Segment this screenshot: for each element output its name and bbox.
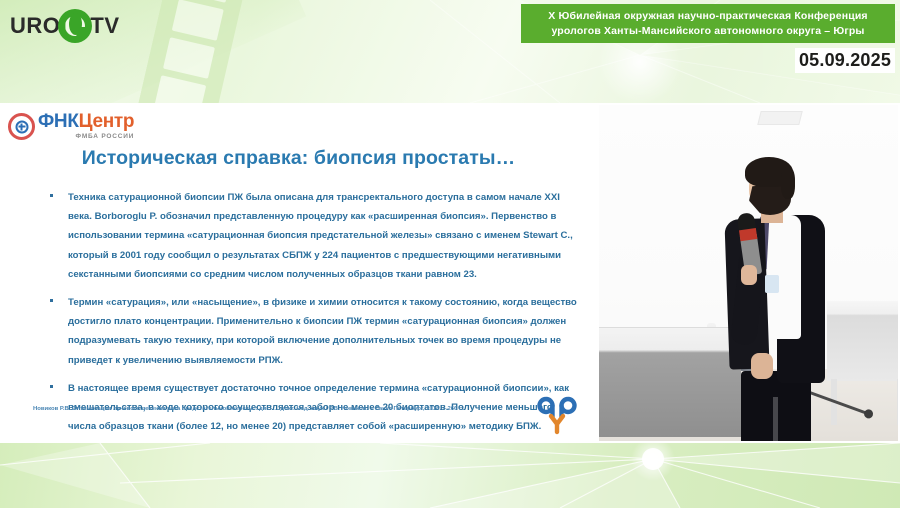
speaker-figure xyxy=(719,157,831,441)
urotv-logo-suffix: TV xyxy=(90,13,119,39)
fnkc-logo: ФНКЦентр ФМБА РОССИИ xyxy=(8,112,134,141)
fnkc-cross-ring-icon xyxy=(8,113,35,140)
speaker-hand-lower xyxy=(751,353,773,379)
bullet-marker-icon xyxy=(50,194,53,197)
top-banner: URO TV X Юбилейная окружная научно-практ… xyxy=(0,0,900,103)
video-frame: Докладчик с микрофоном в конференц-зале xyxy=(599,105,898,441)
slide-bullet-text: Техника сатурационной биопсии ПЖ была оп… xyxy=(68,188,579,284)
conference-title-line-2: урологов Ханты-Мансийского автономного о… xyxy=(551,24,864,38)
presentation-viewer: URO TV X Юбилейная окружная научно-практ… xyxy=(0,0,900,508)
urotv-logo: URO TV xyxy=(10,8,120,44)
conference-title-band: X Юбилейная окружная научно-практическая… xyxy=(521,4,895,43)
slide-bullet-text: Термин «сатурация», или «насыщение», в ф… xyxy=(68,293,579,370)
conference-date-text: 05.09.2025 xyxy=(799,50,891,71)
fnkc-logo-word-orange: Центр xyxy=(79,111,135,132)
slide-citation: Новиков Р.В. Оптимизация лучевого лечени… xyxy=(33,405,557,413)
speaker-hair xyxy=(745,157,793,187)
slide-bullet-item: Техника сатурационной биопсии ПЖ была оп… xyxy=(46,188,579,284)
side-table xyxy=(827,301,898,381)
slide-title: Историческая справка: биопсия простаты… xyxy=(0,147,597,170)
content-row: ФНКЦентр ФМБА РОССИИ Историческая справк… xyxy=(0,103,900,443)
slide-panel[interactable]: ФНКЦентр ФМБА РОССИИ Историческая справк… xyxy=(0,103,597,443)
bullet-marker-icon xyxy=(50,385,53,388)
conference-title-line-1: X Юбилейная окружная научно-практическая… xyxy=(548,9,867,23)
urotv-logo-prefix: URO xyxy=(10,13,60,39)
conference-date-badge: 05.09.2025 xyxy=(795,48,895,73)
qpy-monogram-logo-icon xyxy=(533,391,581,435)
speaker-hand-holding-mic xyxy=(741,265,757,285)
fnkc-logo-wordmark: ФНКЦентр ФМБА РОССИИ xyxy=(38,112,134,141)
fnkc-logo-subtitle: ФМБА РОССИИ xyxy=(38,134,134,141)
speaker-badge xyxy=(765,275,779,293)
bottom-banner xyxy=(0,443,900,508)
ceiling-vent xyxy=(757,111,802,125)
urotv-circle-mark-icon xyxy=(58,9,92,43)
fnkc-logo-word-blue: ФНК xyxy=(38,111,79,132)
bullet-marker-icon xyxy=(50,299,53,302)
slide-bullet-item: Термин «сатурация», или «насыщение», в ф… xyxy=(46,293,579,370)
speaker-video-panel[interactable]: Докладчик с микрофоном в конференц-зале xyxy=(597,103,900,443)
footer-polygon-pattern xyxy=(0,443,900,508)
